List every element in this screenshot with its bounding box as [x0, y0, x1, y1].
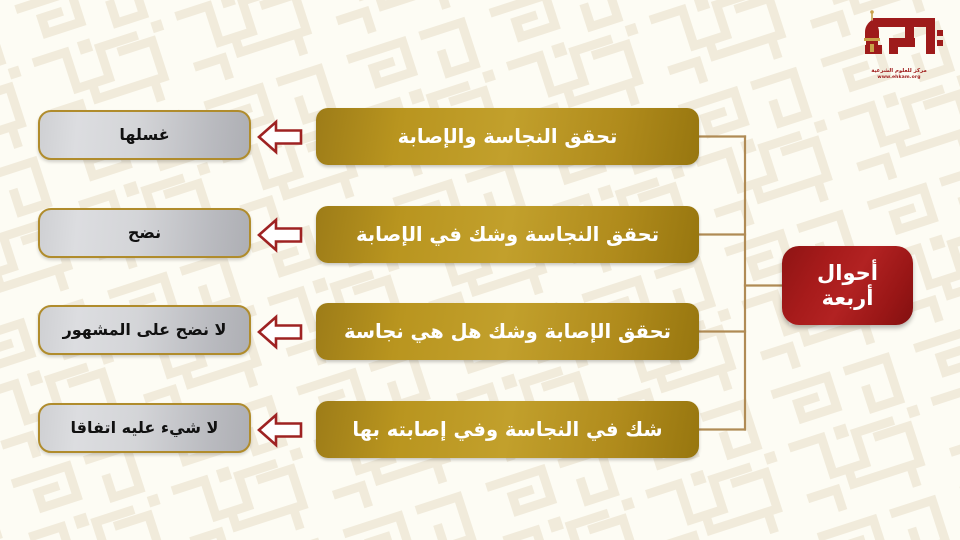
mosque-dome-icon: [864, 10, 880, 52]
ruling-label-3: لا نضح على المشهور: [63, 320, 227, 339]
ruling-box-4[interactable]: لا شيء عليه اتفاقا: [38, 403, 251, 453]
cause-box-3[interactable]: تحقق الإصابة وشك هل هي نجاسة: [316, 303, 699, 360]
arrow-left-icon-2: [256, 214, 304, 256]
ruling-label-2: نضح: [128, 223, 161, 242]
logo-wordmark-icon: [845, 8, 953, 66]
arrow-left-icon-4: [256, 409, 304, 451]
logo-subtitle: مركز للعلوم الشرعية: [845, 67, 953, 75]
logo-url: www.ehkam.org: [845, 75, 953, 81]
ruling-box-3[interactable]: لا نضح على المشهور: [38, 305, 251, 355]
ruling-label-4: لا شيء عليه اتفاقا: [71, 418, 219, 437]
ruling-box-1[interactable]: غسلها: [38, 110, 251, 160]
cause-box-2[interactable]: تحقق النجاسة وشك في الإصابة: [316, 206, 699, 263]
root-line-2: أربعة: [822, 286, 874, 310]
arrow-left-icon-1: [256, 116, 304, 158]
ruling-box-2[interactable]: نضح: [38, 208, 251, 258]
cause-box-1[interactable]: تحقق النجاسة والإصابة: [316, 108, 699, 165]
arrow-left-icon-3: [256, 311, 304, 353]
cause-label-1: تحقق النجاسة والإصابة: [398, 125, 618, 148]
cause-label-2: تحقق النجاسة وشك في الإصابة: [356, 223, 659, 246]
root-line-1: أحوال: [817, 261, 878, 285]
cause-box-4[interactable]: شك في النجاسة وفي إصابته بها: [316, 401, 699, 458]
ihkam-logo[interactable]: مركز للعلوم الشرعية www.ehkam.org: [845, 8, 953, 92]
cause-label-3: تحقق الإصابة وشك هل هي نجاسة: [344, 320, 671, 343]
root-node[interactable]: أحوال أربعة: [782, 246, 913, 325]
ruling-label-1: غسلها: [119, 125, 169, 144]
cause-label-4: شك في النجاسة وفي إصابته بها: [352, 418, 662, 441]
